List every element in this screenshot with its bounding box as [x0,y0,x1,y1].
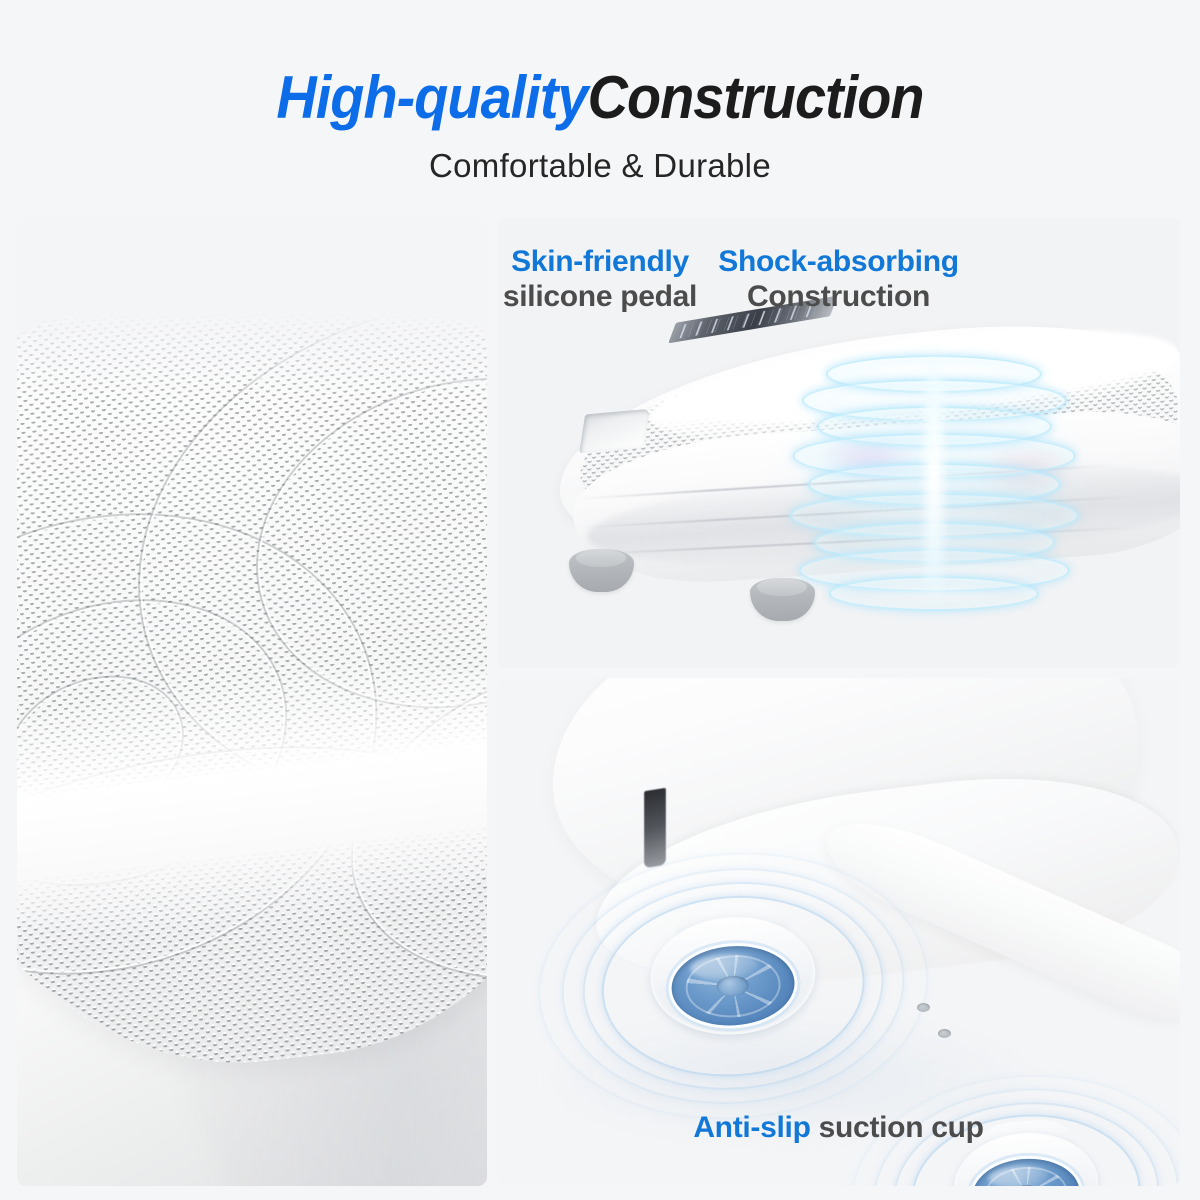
support-arm-screw-hole [938,1029,951,1038]
page-title: High-qualityConstruction [276,68,923,128]
panel-skin-friendly-silicone-pedal [17,218,487,1186]
silicone-pedal-photo [17,218,487,1186]
vibration-plate-photo [497,218,1180,668]
suction-cup-primary [627,896,839,1069]
underside-vent-slot [644,788,666,869]
rubber-foot [750,578,815,621]
control-display-panel [668,296,837,343]
page-title-rest: Construction [588,64,924,131]
carry-handle-recess [579,408,650,453]
suction-cup-gloss [988,1164,1049,1186]
suction-cup-photo [497,678,1180,1186]
page-title-highlight: High-quality [276,64,587,131]
panel-anti-slip-suction-cup [497,678,1180,1186]
panel-shock-absorbing-construction [497,218,1180,668]
header: High-qualityConstruction Comfortable & D… [0,0,1200,218]
page-subtitle: Comfortable & Durable [429,147,771,185]
rubber-foot-top [757,578,806,596]
shock-wave-ring [829,576,1039,611]
pedal-top-fade [17,218,487,402]
suction-cup-secondary [934,1115,1118,1186]
rubber-foot-top [576,549,625,567]
rubber-foot [569,549,634,592]
